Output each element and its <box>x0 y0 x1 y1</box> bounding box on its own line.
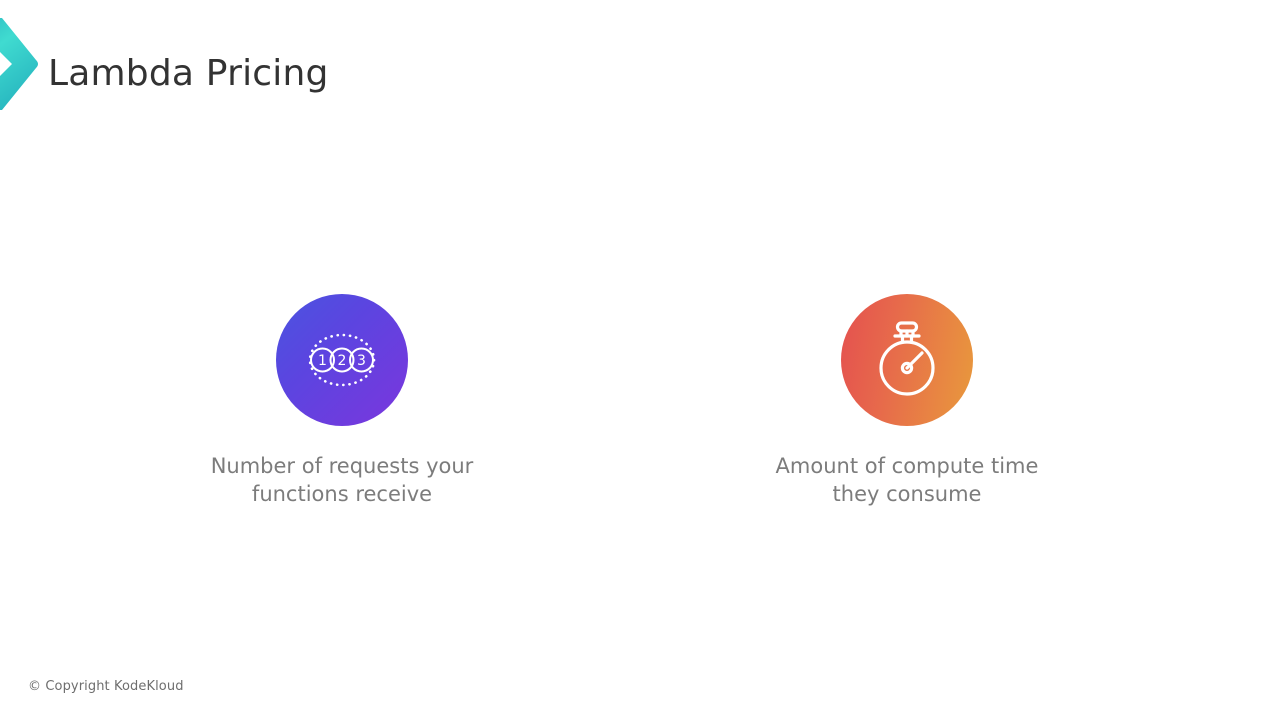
brand-chevron-logo <box>0 18 42 110</box>
chevron-right-icon <box>0 18 42 110</box>
step-digit-2: 2 <box>338 353 347 369</box>
footer-copyright: © Copyright KodeKloud <box>28 679 184 694</box>
numbered-steps-123-icon: 1 2 3 <box>299 317 385 403</box>
requests-caption: Number of requests your functions receiv… <box>172 452 512 508</box>
compute-time-caption-line1: Amount of compute time <box>776 454 1039 478</box>
slide-canvas: Lambda Pricing 1 2 <box>0 0 1280 720</box>
compute-time-caption-line2: they consume <box>833 482 982 506</box>
compute-time-caption: Amount of compute time they consume <box>737 452 1077 508</box>
requests-caption-line2: functions receive <box>252 482 432 506</box>
requests-caption-line1: Number of requests your <box>211 454 474 478</box>
step-digit-1: 1 <box>318 353 327 369</box>
pricing-factor-compute-time: Amount of compute time they consume <box>737 294 1077 508</box>
step-digit-3: 3 <box>357 353 366 369</box>
stopwatch-icon <box>867 317 947 403</box>
pricing-factors-row: 1 2 3 Number of requests your functions … <box>0 294 1280 534</box>
pricing-factor-requests: 1 2 3 Number of requests your functions … <box>172 294 512 508</box>
requests-icon-badge: 1 2 3 <box>276 294 408 426</box>
compute-time-icon-badge <box>841 294 973 426</box>
page-title: Lambda Pricing <box>48 52 329 95</box>
